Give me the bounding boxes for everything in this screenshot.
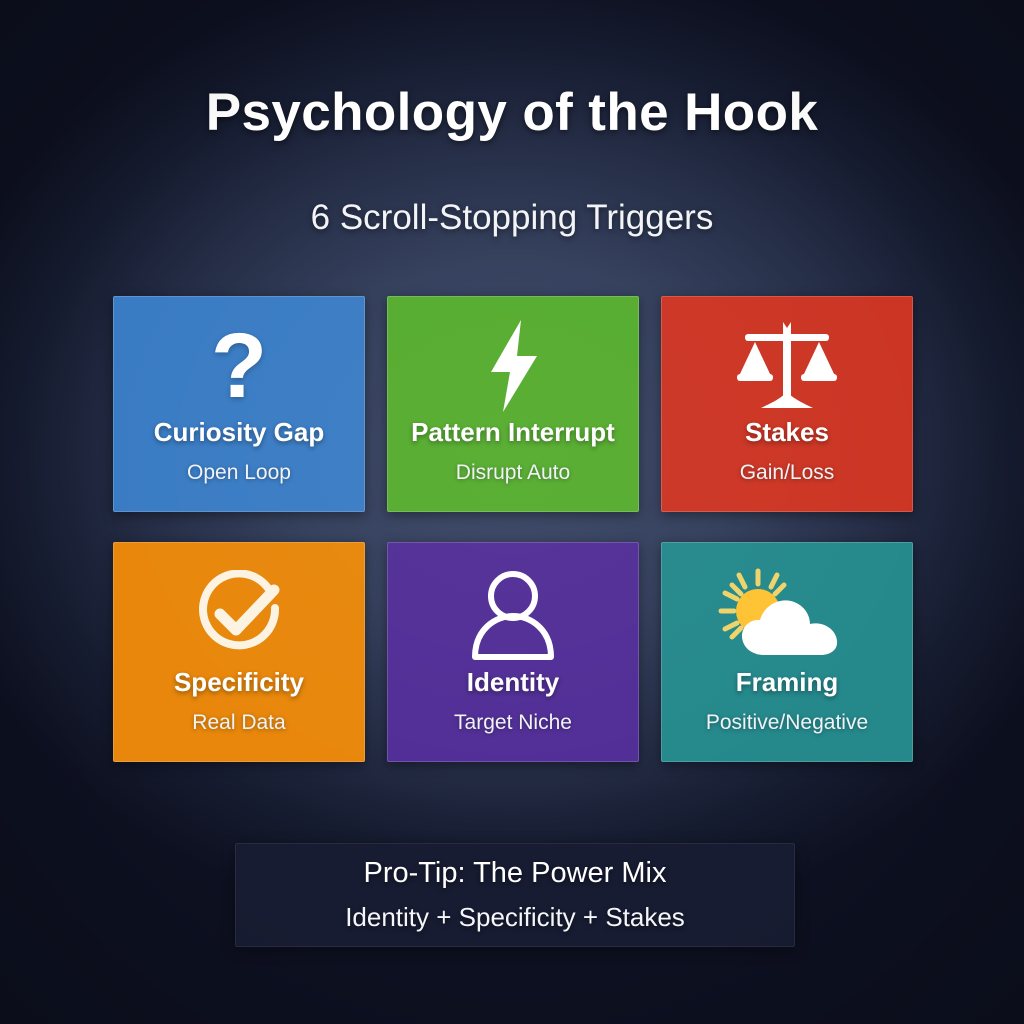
card-subtitle: Disrupt Auto bbox=[456, 461, 570, 485]
card-title: Stakes bbox=[745, 418, 829, 447]
infographic-poster: Psychology of the Hook 6 Scroll-Stopping… bbox=[0, 0, 1024, 1024]
pro-tip-title: Pro-Tip: The Power Mix bbox=[364, 857, 667, 890]
card-title: Identity bbox=[467, 668, 559, 697]
pro-tip-formula: Identity + Specificity + Stakes bbox=[345, 902, 685, 933]
card-curiosity-gap[interactable]: ? Curiosity Gap Open Loop bbox=[113, 296, 365, 512]
card-subtitle: Positive/Negative bbox=[706, 711, 868, 735]
person-icon bbox=[470, 566, 556, 664]
card-pattern-interrupt[interactable]: Pattern Interrupt Disrupt Auto bbox=[387, 296, 639, 512]
question-mark-icon: ? bbox=[211, 318, 267, 414]
card-subtitle: Target Niche bbox=[454, 711, 572, 735]
pro-tip-panel: Pro-Tip: The Power Mix Identity + Specif… bbox=[235, 843, 795, 947]
card-title: Pattern Interrupt bbox=[411, 418, 615, 447]
card-subtitle: Open Loop bbox=[187, 461, 291, 485]
card-subtitle: Real Data bbox=[192, 711, 285, 735]
card-specificity[interactable]: Specificity Real Data bbox=[113, 542, 365, 762]
card-identity[interactable]: Identity Target Niche bbox=[387, 542, 639, 762]
card-framing[interactable]: Framing Positive/Negative bbox=[661, 542, 913, 762]
card-title: Curiosity Gap bbox=[154, 418, 324, 447]
balance-scales-icon bbox=[735, 318, 839, 414]
card-title: Framing bbox=[736, 668, 839, 697]
card-title: Specificity bbox=[174, 668, 304, 697]
card-stakes[interactable]: Stakes Gain/Loss bbox=[661, 296, 913, 512]
check-circle-icon bbox=[194, 566, 284, 664]
page-subtitle: 6 Scroll-Stopping Triggers bbox=[0, 198, 1024, 238]
trigger-card-grid: ? Curiosity Gap Open Loop Pattern Interr… bbox=[113, 296, 913, 764]
card-subtitle: Gain/Loss bbox=[740, 461, 835, 485]
lightning-bolt-icon bbox=[477, 318, 549, 414]
page-title: Psychology of the Hook bbox=[0, 82, 1024, 143]
sun-cloud-icon bbox=[717, 566, 857, 664]
